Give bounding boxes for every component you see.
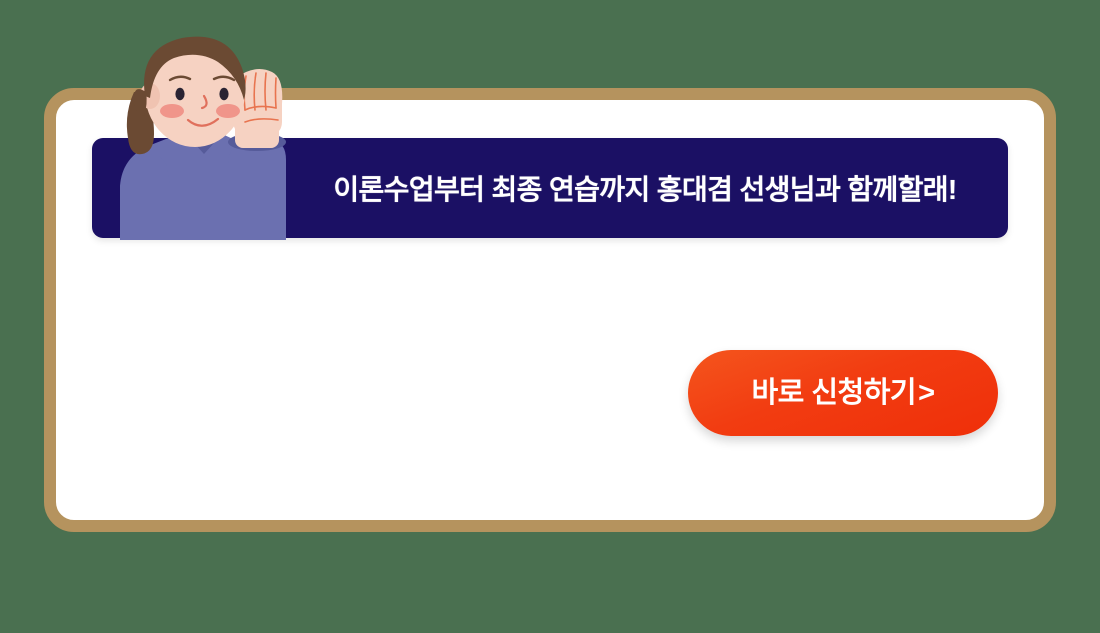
- chevron-right-icon: >: [918, 379, 934, 408]
- headline-text: 이론수업부터 최종 연습까지 홍대겸 선생님과 함께할래!: [92, 138, 1008, 238]
- apply-now-button-label: 바로 신청하기: [751, 379, 916, 408]
- promo-banner-root: 이론수업부터 최종 연습까지 홍대겸 선생님과 함께할래! 바로 신청하기 >: [0, 0, 1100, 633]
- headline-banner: 이론수업부터 최종 연습까지 홍대겸 선생님과 함께할래!: [92, 138, 1008, 238]
- apply-now-button[interactable]: 바로 신청하기 >: [688, 350, 998, 436]
